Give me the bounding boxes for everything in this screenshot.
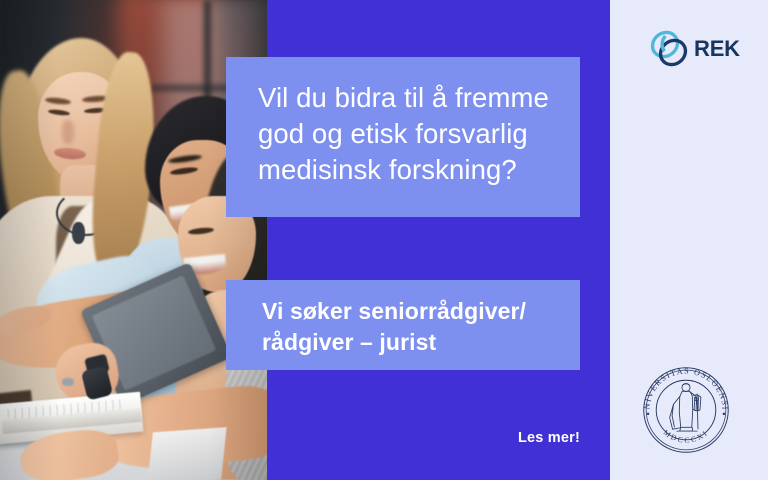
rek-wordmark: REK [694, 36, 740, 62]
seal-top-text: UNIVERSITAS OSLOENSIS [638, 362, 730, 411]
job-title-box: Vi søker seniorrådgiver/ rådgiver – juri… [226, 280, 580, 370]
rek-logo[interactable]: REK [648, 26, 748, 72]
seal-dot-left [647, 413, 649, 415]
headline-text: Vil du bidra til å fremme god og etisk f… [258, 80, 554, 188]
rek-rings-icon [648, 27, 692, 71]
read-more-link[interactable]: Les mer! [450, 430, 580, 446]
headline-box: Vil du bidra til å fremme god og etisk f… [226, 57, 580, 217]
seal-dot-right [723, 413, 725, 415]
seal-bottom-text: MDCCCXI [662, 428, 710, 445]
job-title-text: Vi søker seniorrådgiver/ rådgiver – juri… [262, 296, 554, 358]
seal-apollo-figure [670, 383, 701, 431]
uio-seal-logo[interactable]: UNIVERSITAS OSLOENSIS MDCCCXI [638, 362, 734, 458]
recruitment-banner: Vil du bidra til å fremme god og etisk f… [0, 0, 768, 480]
